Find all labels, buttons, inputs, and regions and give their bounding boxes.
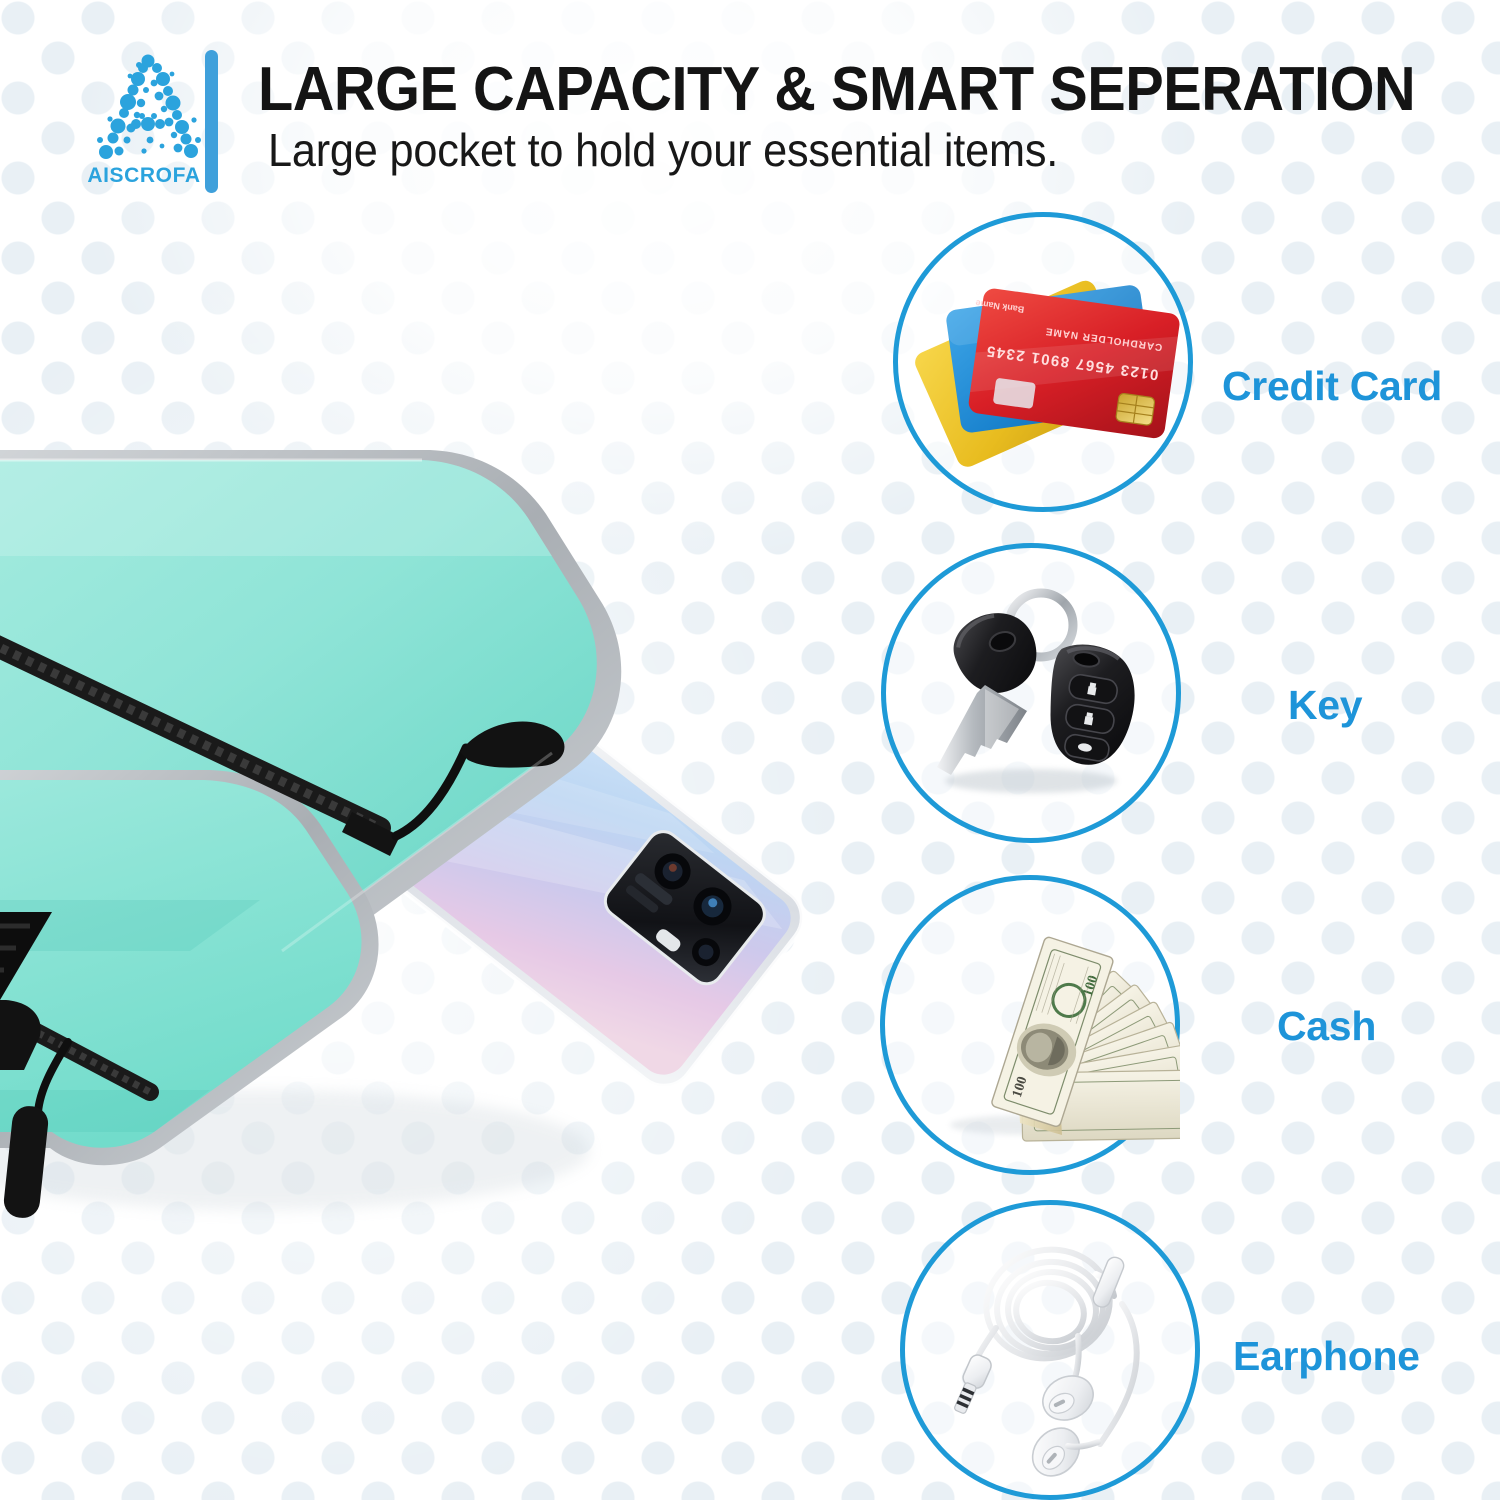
page-subtitle: Large pocket to hold your essential item… [268, 126, 1058, 174]
dotted-letter-a-logo-icon [86, 52, 202, 162]
brand-logo: AISCROFA [86, 52, 202, 200]
feature-cash: 100 100 [880, 875, 1180, 1175]
feature-label-credit-card: Credit Card [1222, 363, 1442, 410]
dollar-bills-fan-icon: 100 100 [880, 875, 1180, 1175]
wired-earphones-icon [900, 1200, 1200, 1500]
infographic-page: AISCROFA LARGE CAPACITY & SMART SEPERATI… [0, 0, 1500, 1500]
product-photo [0, 300, 840, 1260]
feature-key [881, 543, 1181, 843]
header: AISCROFA LARGE CAPACITY & SMART SEPERATI… [0, 0, 1500, 215]
feature-earphone [900, 1200, 1200, 1500]
car-key-with-fob-icon [881, 543, 1181, 843]
page-title: LARGE CAPACITY & SMART SEPERATION [258, 58, 1415, 121]
credit-cards-fan-icon: 0123 CARDHOLDER NAME 0123 4567 CARDHOLDE… [893, 212, 1193, 512]
brand-name: AISCROFA [86, 164, 202, 188]
feature-label-key: Key [1288, 682, 1362, 729]
feature-label-earphone: Earphone [1233, 1333, 1420, 1380]
feature-credit-card: 0123 CARDHOLDER NAME 0123 4567 CARDHOLDE… [893, 212, 1193, 512]
feature-label-cash: Cash [1277, 1003, 1376, 1050]
header-divider [205, 50, 218, 193]
